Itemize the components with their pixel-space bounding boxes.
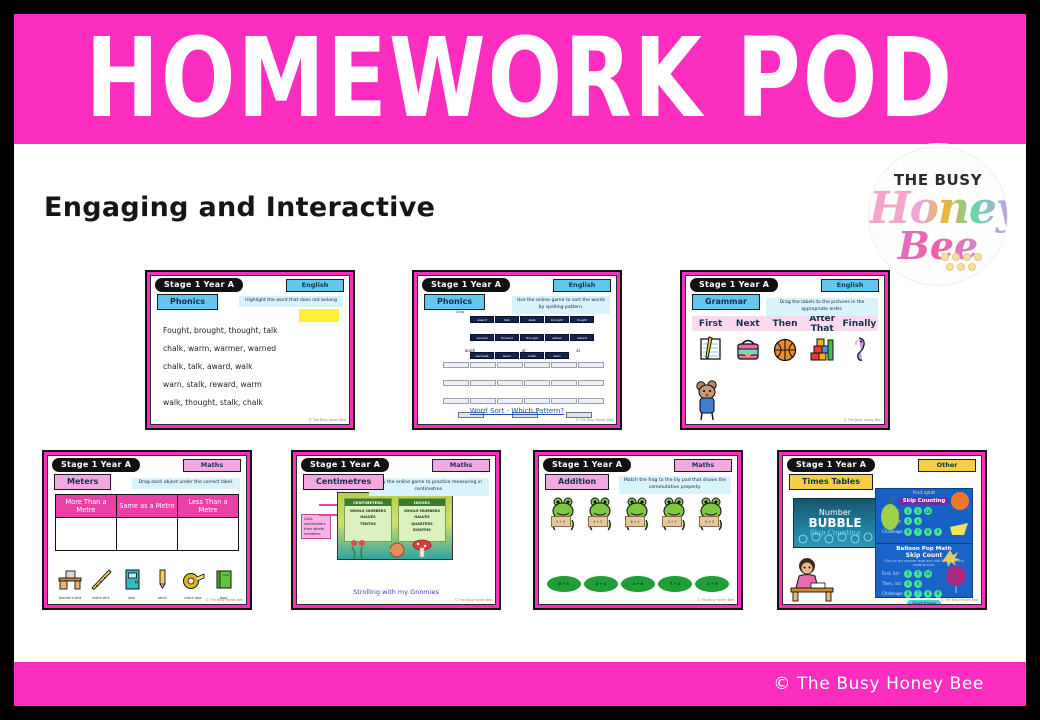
row-label: Challenge: [882,529,904,534]
drop-slot[interactable] [470,398,496,404]
stage-pill: Stage 1 Year A [52,458,140,472]
card-times-tables[interactable]: Stage 1 Year A Other Times Tables Number… [777,450,987,610]
card-inner: Stage 1 Year A Maths Meters Drag each ob… [47,455,247,605]
fruit-title: fruit splat [876,491,972,496]
column-header: Same as a Metre [117,495,178,517]
level-chip[interactable]: 5 [914,570,922,578]
card-copyright: © The Busy Honey Bee [941,598,978,602]
instruction-text: Drag the labels to the pictures in the a… [766,298,878,316]
sequence-word[interactable]: Next [729,319,766,329]
building-blocks-icon[interactable] [809,335,835,363]
subject-badge: Maths [432,459,490,472]
instruction-text: Play the online game to practise measuri… [369,478,489,496]
drop-slot[interactable] [578,362,604,368]
card-grammar-sequence[interactable]: Stage 1 Year A English Grammar Drag the … [680,270,890,430]
drop-cell[interactable] [178,518,238,550]
level-chip[interactable]: 4 [914,580,922,588]
drop-slot[interactable] [551,362,577,368]
lilypad-icon[interactable]: 1 + 6 [621,576,655,592]
subtitle: Engaging and Interactive [44,192,435,223]
arrow-indicator [319,504,339,506]
lilypad-label: 7 + 2 [670,582,681,586]
instruction-text: Match the frog to the lily pad that show… [619,476,731,494]
highlight-box[interactable] [299,309,339,322]
drop-slot[interactable] [470,380,496,386]
topic-tab: Centimetres [303,474,384,490]
card-copyright: © The Busy Honey Bee [455,598,492,602]
sequence-word[interactable]: First [692,319,729,329]
frog-sign[interactable]: 2 + 7 [662,516,682,527]
pencil-icon [149,568,175,590]
stage-pill: Stage 1 Year A [422,278,510,292]
drop-slot[interactable] [524,398,550,404]
drop-slot[interactable] [497,362,523,368]
basketball-icon[interactable] [772,335,798,363]
header-band: HOMEWORK POD [14,14,1026,144]
word-line[interactable]: walk, thought, stalk, chalk [163,398,263,407]
sort-column-label: al [550,348,606,353]
word-chip[interactable]: forward [495,334,519,341]
level-chip[interactable]: 3 [904,517,912,525]
school-bag-icon[interactable] [735,335,761,363]
word-chip[interactable]: reward [570,334,594,341]
level-chip[interactable]: 5 [914,507,922,515]
balloon-level-row: Challenge: 6 7 8 9 [882,590,972,598]
stage-pill: Stage 1 Year A [787,458,875,472]
sequence-word[interactable]: Then [766,319,803,329]
page-title: HOMEWORK POD [86,24,955,134]
fruit-level-row: Challenge: 6 7 8 9 [882,528,972,536]
card-inner: Stage 1 Year A English Phonics Use the o… [417,275,617,425]
level-chip[interactable]: 2 [904,507,912,515]
object-label: teacher's desk [57,596,83,600]
topic-tab: Phonics [424,294,485,310]
drop-cell[interactable] [56,518,117,550]
instruction-text: Highlight the word that does not belong [239,296,343,307]
row-label: First, list: [882,571,904,576]
instruction-text: Drag each object under the correct label… [132,478,240,489]
level-chip[interactable]: 3 [904,580,912,588]
balloon-note: Click on the number level and click Skip… [876,559,972,567]
card-meters-sort[interactable]: Stage 1 Year A Maths Meters Drag each ob… [42,450,252,610]
level-chip[interactable]: 9 [934,590,942,598]
object-label: door [119,596,145,600]
card-phonics-wordsort[interactable]: Stage 1 Year A English Phonics Use the o… [412,270,622,430]
card-inner: Stage 1 Year A English Phonics Highlight… [150,275,350,425]
lilypad-label: 1 + 6 [633,582,644,586]
level-chip[interactable]: 8 [924,590,932,598]
column-header: More Than a Metre [56,495,117,517]
column-header: Less Than a Metre [178,495,238,517]
stage-pill: Stage 1 Year A [543,458,631,472]
word-chip[interactable]: stalk [520,316,544,323]
card-copyright: © The Busy Honey Bee [576,418,613,422]
bubble-line-2: BUBBLE [794,517,876,529]
table-header-row: More Than a Metre Same as a Metre Less T… [56,495,238,517]
object-label: metre tape [180,596,206,600]
fruit-level-row: First, list: 2 5 10 [882,507,972,515]
frog-icon[interactable]: 6 + 1 [623,496,653,536]
topic-tab: Meters [54,474,111,490]
arrow-indicator [319,514,339,516]
stage-pill: Stage 1 Year A [155,278,243,292]
topic-tab: Phonics [157,294,218,310]
metre-stick-icon [88,568,114,590]
drop-slot[interactable] [524,380,550,386]
topic-tab: Grammar [692,294,760,310]
object-item[interactable]: metre stick [88,568,114,600]
drop-slot[interactable] [578,398,604,404]
fruit-splat-tile[interactable]: fruit splat Skip Counting First, list: 2… [875,488,973,544]
word-sort-link[interactable]: Word Sort - Which Pattern? [418,407,616,415]
word-line[interactable]: chalk, talk, award, walk [163,362,252,371]
lilypad-icon[interactable]: 3 + 5 [695,576,729,592]
mouse-character-icon [692,377,722,421]
frog-sign[interactable]: 5 + 3 [699,516,719,527]
object-item[interactable]: teacher's desk [57,568,83,600]
game-scene[interactable]: CENTIMETERS WHOLE NUMBERS HALVES TENTHS … [337,492,453,560]
bubble-decoration [794,531,878,545]
scene-decoration [338,493,453,560]
stage-pill: Stage 1 Year A [690,278,778,292]
card-centimetres-game[interactable]: Stage 1 Year A Maths Centimetres Play th… [291,450,501,610]
level-chip[interactable]: 9 [934,528,942,536]
lilypad-label: 5 + 3 [558,582,569,586]
level-chip[interactable]: 4 [914,517,922,525]
level-chip[interactable]: 6 [904,528,912,536]
hint-note: Click centimeters then whole numbers. [301,514,331,539]
number-bubble-tile[interactable]: Number BUBBLE Skip Counting [793,498,877,548]
drop-slot[interactable] [551,398,577,404]
frog-icon[interactable]: 5 + 3 [697,496,727,536]
topic-tab: Addition [545,474,609,490]
row-label: Challenge: [882,591,904,596]
card-copyright: © The Busy Honey Bee [206,598,243,602]
brand-logo: THE BUSY Honey Bee [868,146,1008,286]
card-addition-commutative[interactable]: Stage 1 Year A Maths Addition Match the … [533,450,743,610]
lilypad-icon[interactable]: 7 + 2 [658,576,692,592]
lilypad-label: 2 + 4 [596,582,607,586]
drop-slot[interactable] [551,380,577,386]
level-chip[interactable]: 2 [904,570,912,578]
level-chip[interactable]: 8 [924,528,932,536]
girl-at-desk-icon [787,554,839,602]
frog-row: 3 + 5 4 + 2 [545,496,731,540]
object-item[interactable]: door [119,568,145,600]
drop-slot[interactable] [470,362,496,368]
drop-slot[interactable] [497,398,523,404]
metre-tape-icon [180,568,206,590]
object-label: metre stick [88,596,114,600]
stage-pill: Stage 1 Year A [301,458,389,472]
card-inner: Stage 1 Year A English Grammar Drag the … [685,275,885,425]
word-chip[interactable]: fought [570,316,594,323]
word-line[interactable]: Fought, brought, thought, talk [163,326,278,335]
level-chip[interactable]: 7 [914,528,922,536]
sort-column-label: ough [442,348,498,353]
centimetres-link[interactable]: Strolling with my Gnomies [297,588,495,596]
subject-badge: Other [918,459,976,472]
card-copyright: © The Busy Honey Bee [309,418,346,422]
row-label: Then, list: [882,581,904,586]
word-chip[interactable]: talk [495,316,519,323]
object-item[interactable]: pencil [149,568,175,600]
level-chip[interactable]: 7 [914,590,922,598]
subject-badge: English [553,279,611,292]
table-drop-row [56,517,238,550]
drop-cell[interactable] [117,518,178,550]
card-phonics-highlight[interactable]: Stage 1 Year A English Phonics Highlight… [145,270,355,430]
footer-band: © The Busy Honey Bee [14,662,1026,706]
drop-slot[interactable] [443,398,469,404]
object-label: pencil [149,596,175,600]
level-chip[interactable]: 10 [924,507,932,515]
door-icon [119,568,145,590]
wordbank-cue: Drag [456,310,464,314]
card-inner: Stage 1 Year A Other Times Tables Number… [782,455,982,605]
object-item[interactable]: metre tape [180,568,206,600]
body-area: Engaging and Interactive THE BUSY Honey … [14,144,1026,662]
sequence-word[interactable]: Finally [841,319,878,329]
seahorse-icon[interactable] [846,335,872,363]
word-chip[interactable]: warned [470,334,494,341]
row-label: Then, list: [882,519,904,524]
sort-column-label: ar [496,348,552,353]
level-chip[interactable]: 6 [904,590,912,598]
sequence-word-band: First Next Then After That Finally [692,316,878,331]
drop-slot[interactable] [524,362,550,368]
fruit-subtitle[interactable]: Skip Counting [898,497,950,505]
notebook-pencil-icon[interactable] [698,335,724,363]
balloon-subtitle: Skip Count [876,552,972,559]
subject-badge: English [286,279,344,292]
book-icon [211,568,237,590]
subject-badge: Maths [183,459,241,472]
frog-sign[interactable]: 6 + 1 [625,516,645,527]
sequence-picture-row [692,332,878,366]
word-line[interactable]: warn, stalk, reward, warm [163,380,262,389]
lilypad-label: 3 + 5 [707,582,718,586]
card-inner: Stage 1 Year A Maths Centimetres Play th… [296,455,496,605]
row-label: First, list: [882,509,904,514]
teacher-desk-icon [57,568,83,590]
word-chip[interactable]: brought [545,316,569,323]
drop-slot[interactable] [443,380,469,386]
sequence-word[interactable]: After That [804,314,841,334]
honeycomb-dots-icon [941,253,987,275]
drop-slot[interactable] [578,380,604,386]
frog-icon[interactable]: 2 + 7 [660,496,690,536]
word-chip[interactable]: walker [545,334,569,341]
word-line[interactable]: chalk, warm, warmer, warned [163,344,276,353]
sorting-table: More Than a Metre Same as a Metre Less T… [55,494,239,551]
subject-badge: Maths [674,459,732,472]
drop-slot[interactable] [443,362,469,368]
balloon-level-row: First, list: 2 5 10 [882,570,972,578]
frog-sign[interactable]: 3 + 5 [551,516,571,527]
lilypad-icon[interactable]: 5 + 3 [547,576,581,592]
frog-icon[interactable]: 4 + 2 [586,496,616,536]
frog-sign[interactable]: 4 + 2 [588,516,608,527]
card-inner: Stage 1 Year A Maths Addition Match the … [538,455,738,605]
drop-slot[interactable] [497,380,523,386]
word-chip[interactable]: thought [520,334,544,341]
lilypad-row: 5 + 3 2 + 4 1 + 6 7 + 2 3 + 5 [545,574,731,594]
frog-icon[interactable]: 3 + 5 [549,496,579,536]
footer-copyright: © The Busy Honey Bee [773,674,984,694]
balloon-level-row: Then, list: 3 4 [882,580,972,588]
lilypad-icon[interactable]: 2 + 4 [584,576,618,592]
object-tray: teacher's desk metre stick [55,564,239,600]
instruction-text: Use the online game to sort the words by… [512,296,610,314]
object-item[interactable]: book [211,568,237,600]
card-copyright: © The Busy Honey Bee [844,418,881,422]
subject-badge: English [821,279,879,292]
level-chip[interactable]: 10 [924,570,932,578]
word-chip[interactable]: award [470,316,494,323]
slide-page: HOMEWORK POD Engaging and Interactive TH… [0,0,1040,720]
fruit-level-row: Then, list: 3 4 [882,517,972,525]
start-game-button[interactable]: Start Game [907,600,941,605]
balloon-pop-tile[interactable]: Balloon Pop Math Skip Count Click on the… [875,543,973,598]
topic-tab: Times Tables [789,474,873,490]
card-copyright: © The Busy Honey Bee [697,598,734,602]
